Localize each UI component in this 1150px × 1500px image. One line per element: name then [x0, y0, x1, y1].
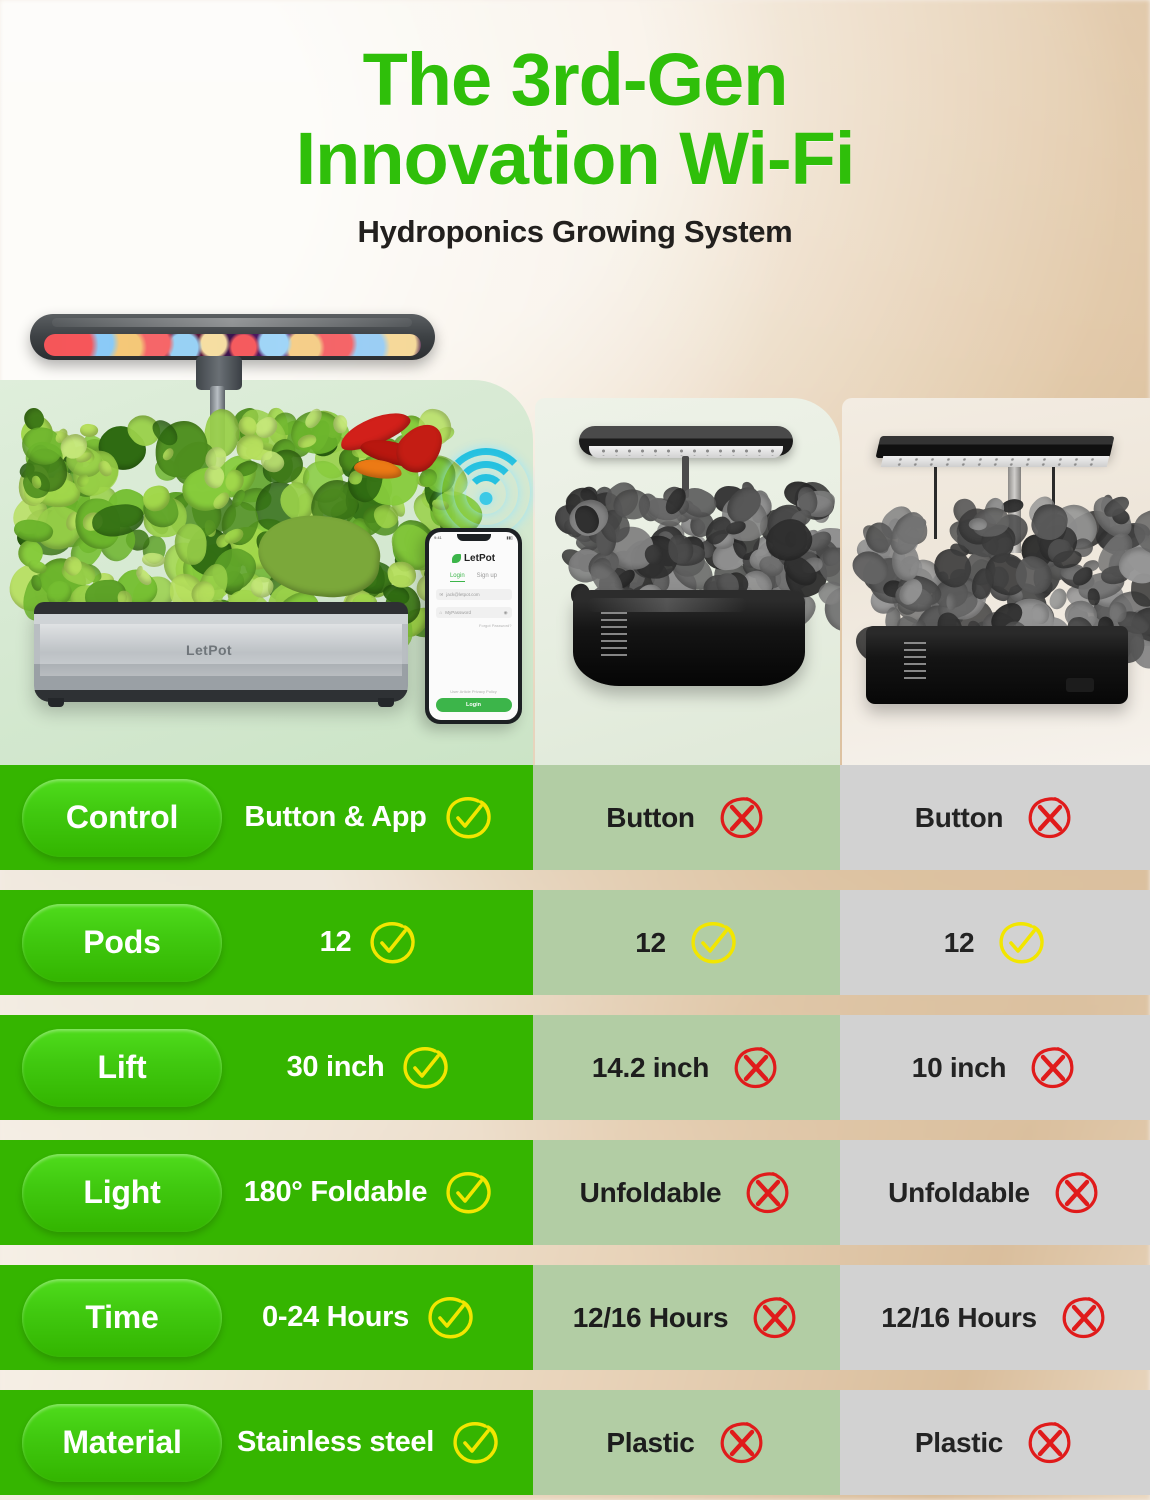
table-row: Time0-24 Hours12/16 Hours12/16 Hours	[0, 1265, 1150, 1370]
mark-check	[996, 918, 1046, 968]
feature-label-pill: Light	[22, 1154, 222, 1232]
check-circle-icon	[425, 1293, 475, 1343]
competitor-2-cell: Unfoldable	[840, 1140, 1150, 1245]
privacy-note: User Article Privacy Policy	[450, 689, 496, 694]
competitor-2-value: 12	[944, 918, 1047, 968]
value-text: 12	[944, 927, 975, 959]
cross-circle-icon	[1028, 1043, 1078, 1093]
plant-leaf	[668, 535, 693, 564]
value-text: Button & App	[244, 801, 426, 834]
cross-circle-icon	[731, 1043, 781, 1093]
check-circle-icon	[443, 793, 493, 843]
competitor-1-value: Plastic	[606, 1418, 766, 1468]
value-text: 180° Foldable	[244, 1176, 427, 1209]
password-value: MyPassword	[445, 610, 471, 615]
mail-icon: ✉	[440, 592, 444, 598]
cross-circle-icon	[1052, 1168, 1102, 1218]
feature-cell-letpot: ControlButton & App	[0, 765, 533, 870]
mark-cross	[717, 1418, 767, 1468]
value-text: 12/16 Hours	[881, 1302, 1036, 1334]
login-button[interactable]: Login	[436, 698, 512, 712]
mark-cross	[1025, 1418, 1075, 1468]
cross-circle-icon	[1059, 1293, 1109, 1343]
check-circle-icon	[996, 918, 1046, 968]
mark-check	[443, 793, 493, 843]
competitor-2-cell: 10 inch	[840, 1015, 1150, 1120]
feature-cell-letpot: Time0-24 Hours	[0, 1265, 533, 1370]
value-text: Plastic	[606, 1427, 694, 1459]
hero-lamp-housing	[30, 314, 435, 360]
app-logo: LetPot	[452, 553, 495, 564]
product-image-strip: LetPot 9:41▮▮▯ LetPot Login Sign	[0, 280, 1150, 765]
letpot-value: Button & App	[222, 793, 533, 843]
value-text: Button	[915, 802, 1003, 834]
wifi-icon	[445, 448, 527, 510]
value-text: 12/16 Hours	[573, 1302, 728, 1334]
mark-cross	[717, 793, 767, 843]
mark-cross	[1052, 1168, 1102, 1218]
base-foot-right	[378, 698, 394, 707]
tab-login[interactable]: Login	[450, 573, 465, 582]
app-auth-tabs: Login Sign up	[450, 573, 497, 582]
competitor-1-cell: 14.2 inch	[533, 1015, 840, 1120]
c2-plastic-base	[866, 626, 1128, 704]
base-foot-left	[48, 698, 64, 707]
check-circle-icon	[367, 918, 417, 968]
feature-cell-letpot: MaterialStainless steel	[0, 1390, 533, 1495]
eye-icon[interactable]: ◉	[504, 610, 508, 616]
feature-label-pill: Material	[22, 1404, 222, 1482]
competitor-2-value: 12/16 Hours	[881, 1293, 1108, 1343]
leaf-icon	[452, 554, 461, 563]
feature-label-pill: Time	[22, 1279, 222, 1357]
letpot-value: 30 inch	[222, 1043, 533, 1093]
letpot-value: 12	[222, 918, 533, 968]
value-text: Unfoldable	[888, 1177, 1030, 1209]
competitor-2-cell: Plastic	[840, 1390, 1150, 1495]
table-row: Pods121212	[0, 890, 1150, 995]
value-text: 0-24 Hours	[262, 1301, 409, 1334]
competitor-1-cell: 12	[533, 890, 840, 995]
mark-cross	[750, 1293, 800, 1343]
lock-icon: ⌂	[440, 610, 443, 615]
table-row: Lift30 inch14.2 inch10 inch	[0, 1015, 1150, 1120]
value-text: 10 inch	[912, 1052, 1006, 1084]
cross-circle-icon	[1025, 1418, 1075, 1468]
mark-check	[425, 1293, 475, 1343]
check-circle-icon	[688, 918, 738, 968]
competitor-2-value: Plastic	[915, 1418, 1075, 1468]
table-row: Light180° FoldableUnfoldableUnfoldable	[0, 1140, 1150, 1245]
mark-cross	[731, 1043, 781, 1093]
hero-product-image: LetPot 9:41▮▮▯ LetPot Login Sign	[0, 280, 533, 765]
competitor-1-value: Unfoldable	[580, 1168, 794, 1218]
competitor-1-image	[535, 398, 840, 765]
title-line-1: The 3rd-Gen	[363, 38, 788, 121]
infographic-page: The 3rd-Gen Innovation Wi-Fi Hydroponics…	[0, 0, 1150, 1500]
email-field[interactable]: ✉ jack@letpot.com	[436, 589, 512, 600]
feature-label-pill: Control	[22, 779, 222, 857]
password-field[interactable]: ⌂ MyPassword ◉	[436, 607, 512, 618]
competitor-1-value: 12	[635, 918, 738, 968]
competitor-2-image	[842, 398, 1150, 765]
c1-base-highlight	[587, 598, 747, 612]
plant-leaf	[141, 552, 166, 569]
c2-lamp-housing	[875, 436, 1114, 458]
cross-circle-icon	[717, 1418, 767, 1468]
c2-plants	[850, 498, 1142, 638]
letpot-value: Stainless steel	[222, 1418, 533, 1468]
competitor-1-value: Button	[606, 793, 766, 843]
letpot-value: 0-24 Hours	[222, 1293, 533, 1343]
email-value: jack@letpot.com	[446, 592, 479, 597]
cross-circle-icon	[717, 793, 767, 843]
mark-cross	[1028, 1043, 1078, 1093]
c1-plants	[555, 480, 823, 602]
header: The 3rd-Gen Innovation Wi-Fi Hydroponics…	[0, 44, 1150, 250]
phone-notch	[457, 534, 491, 541]
competitor-2-cell: 12/16 Hours	[840, 1265, 1150, 1370]
competitor-1-cell: Unfoldable	[533, 1140, 840, 1245]
check-circle-icon	[400, 1043, 450, 1093]
competitor-2-value: Unfoldable	[888, 1168, 1102, 1218]
phone-mockup: 9:41▮▮▯ LetPot Login Sign up ✉ jack@letp…	[425, 528, 522, 724]
value-text: Plastic	[915, 1427, 1003, 1459]
competitor-2-cell: Button	[840, 765, 1150, 870]
tab-signup[interactable]: Sign up	[477, 573, 497, 582]
feature-label-pill: Lift	[22, 1029, 222, 1107]
competitor-2-value: 10 inch	[912, 1043, 1078, 1093]
mark-cross	[743, 1168, 793, 1218]
comparison-table: ControlButton & AppButtonButtonPods12121…	[0, 765, 1150, 1495]
plant-leaf	[946, 593, 957, 610]
competitor-1-cell: Plastic	[533, 1390, 840, 1495]
cross-circle-icon	[743, 1168, 793, 1218]
competitor-1-value: 14.2 inch	[592, 1043, 781, 1093]
value-text: 14.2 inch	[592, 1052, 709, 1084]
title-line-2: Innovation Wi-Fi	[0, 123, 1150, 195]
competitor-1-cell: 12/16 Hours	[533, 1265, 840, 1370]
phone-screen: 9:41▮▮▯ LetPot Login Sign up ✉ jack@letp…	[429, 532, 518, 720]
table-row: ControlButton & AppButtonButton	[0, 765, 1150, 870]
value-text: Stainless steel	[237, 1426, 434, 1459]
competitor-1-cell: Button	[533, 765, 840, 870]
app-brand-name: LetPot	[464, 553, 495, 564]
mark-check	[400, 1043, 450, 1093]
mark-cross	[1059, 1293, 1109, 1343]
hero-lamp-bracket	[196, 356, 242, 390]
check-circle-icon	[450, 1418, 500, 1468]
feature-cell-letpot: Light180° Foldable	[0, 1140, 533, 1245]
mark-check	[688, 918, 738, 968]
lamp-highlight	[52, 318, 412, 327]
hero-plants	[8, 408, 438, 613]
c2-vent	[1066, 678, 1094, 692]
feature-cell-letpot: Lift30 inch	[0, 1015, 533, 1120]
cross-circle-icon	[750, 1293, 800, 1343]
cross-circle-icon	[1025, 793, 1075, 843]
competitor-2-panel	[842, 398, 1150, 765]
hero-led-array	[44, 334, 421, 356]
table-row: MaterialStainless steelPlasticPlastic	[0, 1390, 1150, 1495]
check-circle-icon	[443, 1168, 493, 1218]
page-subtitle: Hydroponics Growing System	[0, 214, 1150, 250]
value-text: Button	[606, 802, 694, 834]
value-text: 12	[635, 927, 666, 959]
letpot-value: 180° Foldable	[222, 1168, 533, 1218]
hero-brand-logo: LetPot	[186, 642, 232, 658]
page-title: The 3rd-Gen Innovation Wi-Fi	[0, 44, 1150, 195]
competitor-1-value: 12/16 Hours	[573, 1293, 800, 1343]
feature-label-pill: Pods	[22, 904, 222, 982]
feature-cell-letpot: Pods12	[0, 890, 533, 995]
value-text: Unfoldable	[580, 1177, 722, 1209]
competitor-1-panel	[535, 398, 840, 765]
value-text: 12	[320, 926, 352, 959]
forgot-password-link[interactable]: Forgot Password?	[436, 623, 512, 628]
mark-check	[443, 1168, 493, 1218]
competitor-2-value: Button	[915, 793, 1075, 843]
mark-check	[367, 918, 417, 968]
c2-lamp-face	[881, 456, 1110, 467]
competitor-2-cell: 12	[840, 890, 1150, 995]
mark-check	[450, 1418, 500, 1468]
mark-cross	[1025, 793, 1075, 843]
value-text: 30 inch	[287, 1051, 385, 1084]
